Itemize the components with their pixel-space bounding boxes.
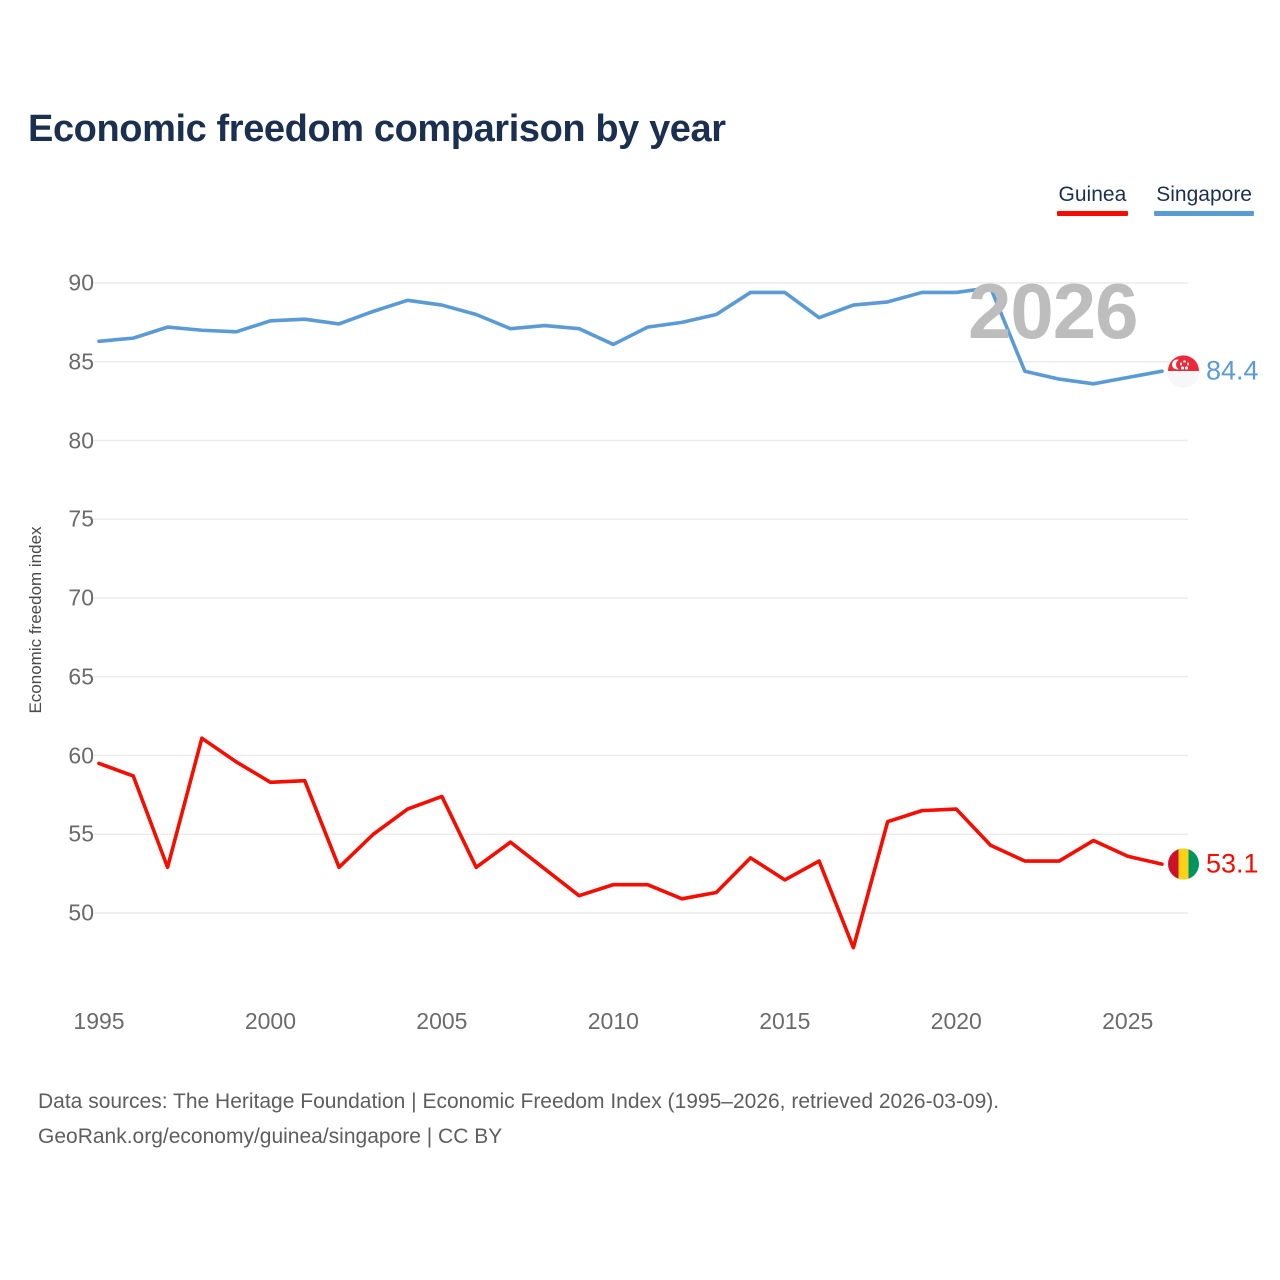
footer-line-2: GeoRank.org/economy/guinea/singapore | C… bbox=[38, 1120, 999, 1155]
singapore-endpoint-value: 84.4 bbox=[1206, 356, 1259, 387]
chart-page: Economic freedom comparison by year Guin… bbox=[0, 0, 1280, 1280]
guinea-endpoint: 53.1 bbox=[1168, 849, 1259, 880]
guinea-flag-icon bbox=[1168, 849, 1199, 880]
singapore-endpoint: 84.4 bbox=[1168, 356, 1259, 387]
year-watermark: 2026 bbox=[968, 272, 1138, 350]
footer-line-1: Data sources: The Heritage Foundation | … bbox=[38, 1085, 999, 1120]
singapore-flag-icon bbox=[1168, 356, 1199, 387]
line-guinea bbox=[99, 738, 1162, 947]
guinea-endpoint-value: 53.1 bbox=[1206, 849, 1259, 880]
footer-sources: Data sources: The Heritage Foundation | … bbox=[38, 1085, 999, 1154]
gridlines bbox=[93, 283, 1188, 913]
